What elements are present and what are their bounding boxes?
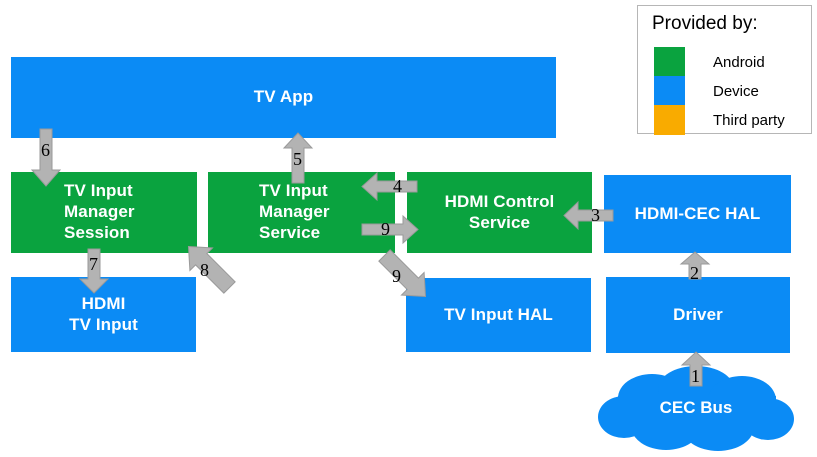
block-tv-app: TV App — [11, 57, 556, 138]
legend-title: Provided by: — [652, 13, 758, 35]
legend-item-android: Android — [654, 47, 765, 77]
block-hdmi-cec-hal-label: HDMI-CEC HAL — [635, 204, 761, 225]
block-tv-input-manager-service-label: TV Input Manager Service — [259, 181, 330, 243]
arrow-8: 8 — [178, 236, 240, 298]
block-tv-app-label: TV App — [254, 87, 313, 108]
legend: Provided by: Android Device Third party — [637, 5, 812, 134]
arrow-4: 4 — [362, 173, 417, 200]
legend-swatch-third-party — [654, 105, 685, 135]
block-driver: Driver — [606, 277, 790, 353]
legend-swatch-device — [654, 76, 685, 106]
arrow-7: 7 — [79, 249, 109, 293]
block-tv-input-manager-session-label: TV Input Manager Session — [64, 181, 135, 243]
legend-item-device: Device — [654, 76, 759, 106]
arrow-9b: 9 — [374, 245, 436, 307]
arrow-3: 3 — [564, 202, 613, 229]
block-driver-label: Driver — [673, 305, 723, 326]
legend-item-third-party: Third party — [654, 105, 785, 135]
block-hdmi-cec-hal: HDMI-CEC HAL — [604, 175, 791, 253]
legend-swatch-android — [654, 47, 685, 77]
legend-label-device: Device — [713, 83, 759, 100]
arrow-6: 6 — [31, 129, 61, 186]
block-hdmi-control-service-label: HDMI Control Service — [445, 192, 555, 233]
arrow-2: 2 — [680, 252, 710, 279]
architecture-diagram: TV App TV Input Manager Session TV Input… — [0, 0, 817, 457]
arrow-9a: 9 — [362, 216, 418, 243]
legend-label-android: Android — [713, 54, 765, 71]
block-tv-input-hal-label: TV Input HAL — [444, 305, 553, 326]
arrow-5: 5 — [283, 133, 313, 183]
legend-label-third-party: Third party — [713, 112, 785, 129]
arrow-1: 1 — [681, 352, 711, 386]
block-hdmi-tv-input-label: HDMI TV Input — [69, 294, 138, 335]
